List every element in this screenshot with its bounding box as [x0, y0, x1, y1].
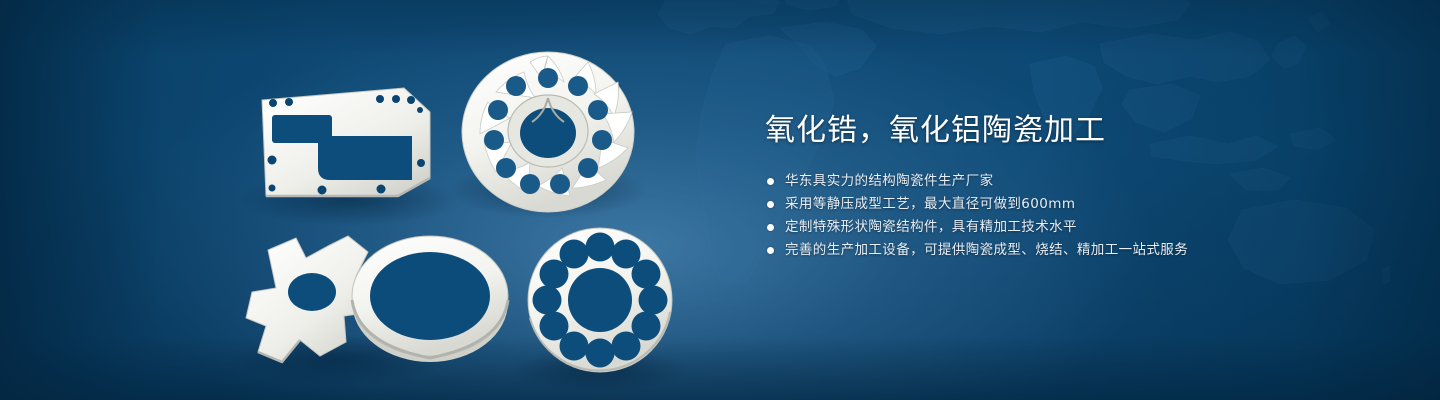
ceramic-ring-part: [352, 236, 508, 362]
feature-item-label: 定制特殊形状陶瓷结构件，具有精加工技术水平: [785, 216, 1077, 239]
hero-banner: 氧化锆，氧化铝陶瓷加工 华东具实力的结构陶瓷件生产厂家 采用等静压成型工艺，最大…: [0, 0, 1440, 400]
bullet-dot-icon: [767, 201, 774, 208]
ceramic-plate-part: [262, 88, 430, 196]
bullet-dot-icon: [767, 224, 774, 231]
ceramic-impeller-part: [462, 52, 634, 212]
feature-item: 完善的生产加工设备，可提供陶瓷成型、烧结、精加工一站式服务: [765, 239, 1405, 262]
bullet-dot-icon: [767, 247, 774, 254]
bullet-dot-icon: [767, 178, 774, 185]
product-photo-cluster: [0, 0, 760, 400]
feature-item-label: 采用等静压成型工艺，最大直径可做到600mm: [785, 193, 1075, 216]
banner-copy: 氧化锆，氧化铝陶瓷加工 华东具实力的结构陶瓷件生产厂家 采用等静压成型工艺，最大…: [765, 112, 1405, 262]
banner-headline: 氧化锆，氧化铝陶瓷加工: [765, 112, 1405, 150]
feature-item-label: 完善的生产加工设备，可提供陶瓷成型、烧结、精加工一站式服务: [785, 239, 1188, 262]
banner-feature-list: 华东具实力的结构陶瓷件生产厂家 采用等静压成型工艺，最大直径可做到600mm 定…: [765, 170, 1405, 262]
feature-item-label: 华东具实力的结构陶瓷件生产厂家: [785, 170, 994, 193]
ceramic-holed-disc-part: [528, 228, 672, 372]
feature-item: 采用等静压成型工艺，最大直径可做到600mm: [765, 193, 1405, 216]
feature-item: 定制特殊形状陶瓷结构件，具有精加工技术水平: [765, 216, 1405, 239]
feature-item: 华东具实力的结构陶瓷件生产厂家: [765, 170, 1405, 193]
